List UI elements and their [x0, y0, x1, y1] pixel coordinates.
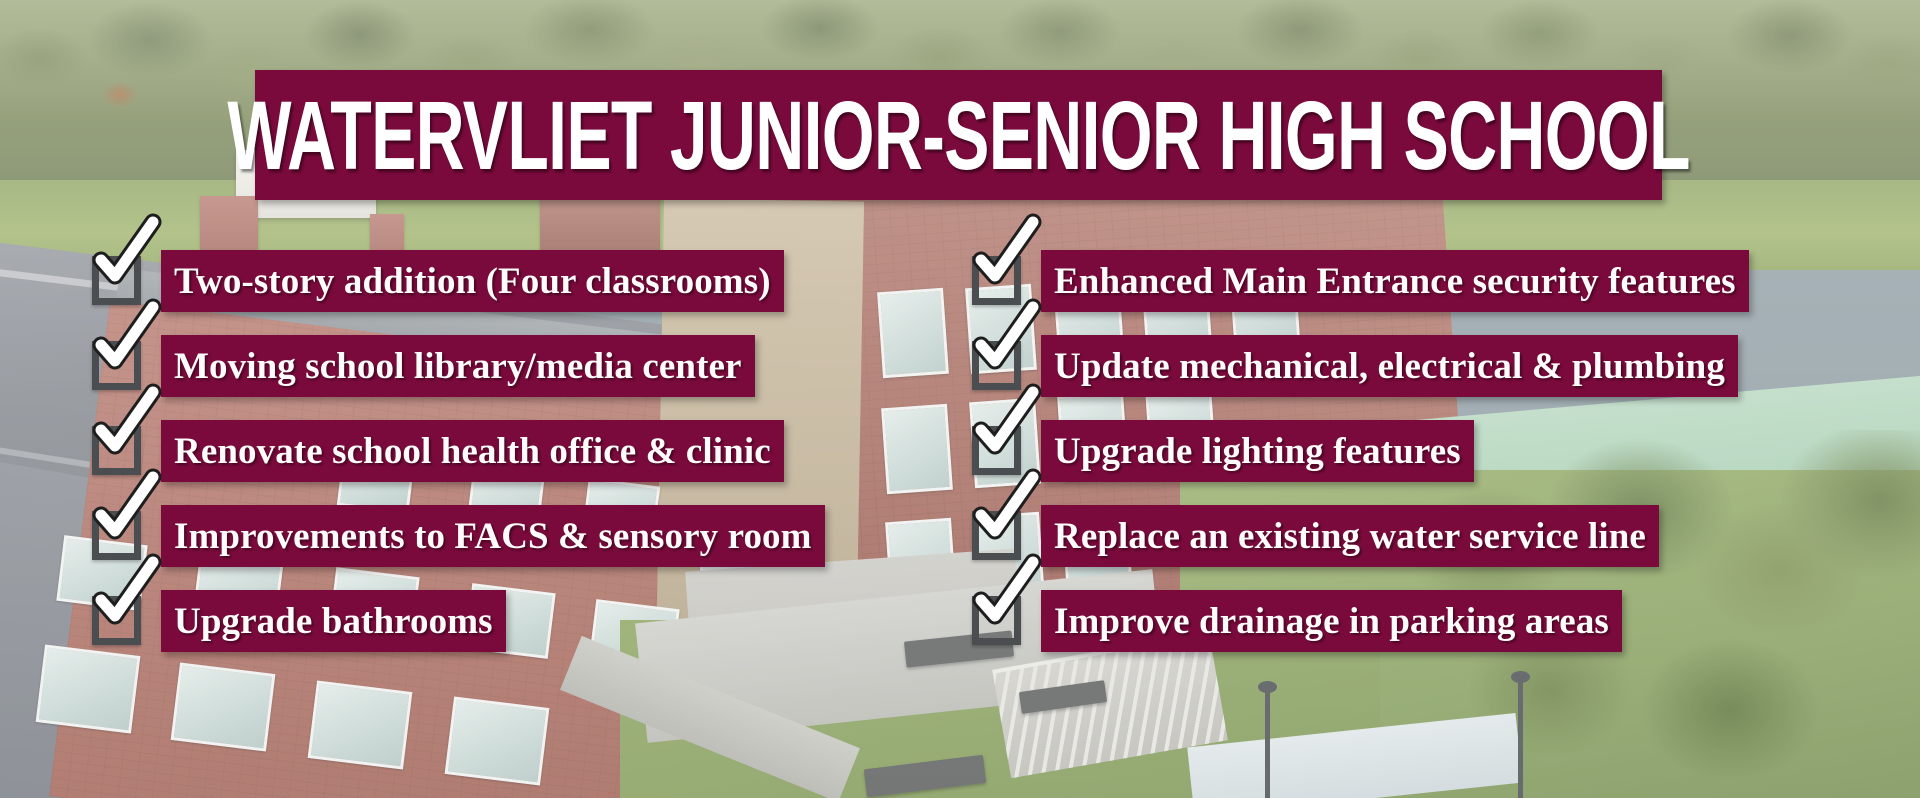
checkbox[interactable] — [92, 426, 141, 475]
page-title-bar: WATERVLIET JUNIOR-SENIOR HIGH SCHOOL — [255, 70, 1662, 200]
checklist-label-bar: Moving school library/media center — [161, 335, 755, 397]
checklist-label-bar: Update mechanical, electrical & plumbing — [1041, 335, 1738, 397]
checkbox[interactable] — [972, 511, 1021, 560]
checklist-label: Replace an existing water service line — [1054, 518, 1646, 555]
checklist-label: Improvements to FACS & sensory room — [174, 518, 812, 555]
checklist-label-bar: Two-story addition (Four classrooms) — [161, 250, 784, 312]
checklist-label: Update mechanical, electrical & plumbing — [1054, 348, 1725, 385]
checklist-label: Moving school library/media center — [174, 348, 742, 385]
checkbox[interactable] — [972, 596, 1021, 645]
checklist-label-bar: Upgrade lighting features — [1041, 420, 1474, 482]
checklist-label: Improve drainage in parking areas — [1054, 603, 1609, 640]
checklist-label: Enhanced Main Entrance security features — [1054, 263, 1736, 300]
checklist-label-bar: Upgrade bathrooms — [161, 590, 506, 652]
checkbox[interactable] — [92, 256, 141, 305]
checkbox[interactable] — [92, 511, 141, 560]
checkbox[interactable] — [972, 341, 1021, 390]
checkbox[interactable] — [972, 256, 1021, 305]
checklist-label-bar: Replace an existing water service line — [1041, 505, 1659, 567]
checklist-label-bar: Renovate school health office & clinic — [161, 420, 784, 482]
checklist-label-bar: Enhanced Main Entrance security features — [1041, 250, 1749, 312]
checklist-label: Upgrade bathrooms — [174, 603, 493, 640]
checklist-label-bar: Improve drainage in parking areas — [1041, 590, 1622, 652]
checklist-label-bar: Improvements to FACS & sensory room — [161, 505, 825, 567]
checklist-label: Upgrade lighting features — [1054, 433, 1461, 470]
checkbox[interactable] — [92, 596, 141, 645]
page-title: WATERVLIET JUNIOR-SENIOR HIGH SCHOOL — [227, 87, 1689, 184]
checkbox[interactable] — [92, 341, 141, 390]
checklist-label: Two-story addition (Four classrooms) — [174, 263, 771, 300]
checkbox[interactable] — [972, 426, 1021, 475]
checklist-label: Renovate school health office & clinic — [174, 433, 771, 470]
